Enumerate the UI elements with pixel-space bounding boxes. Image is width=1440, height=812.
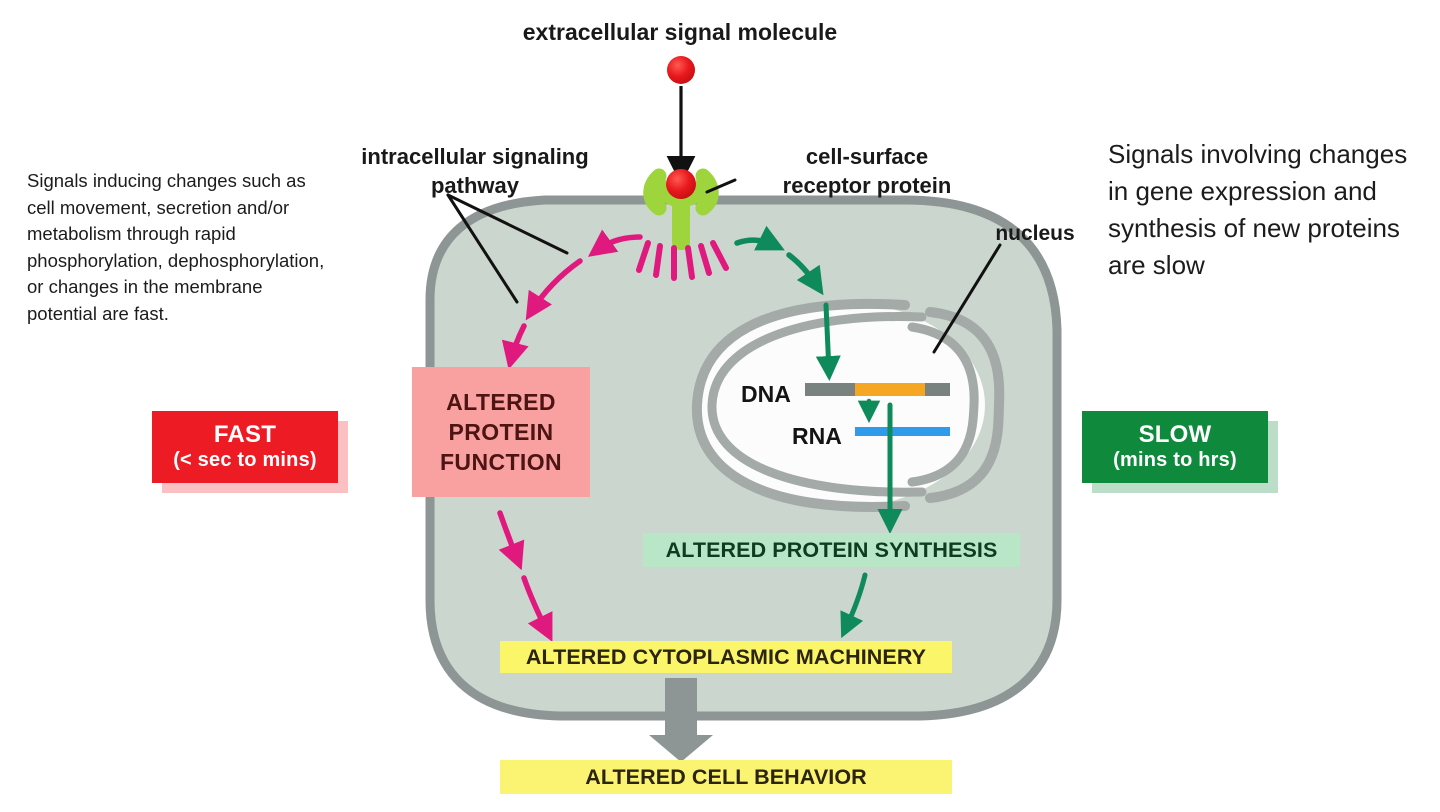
bound-signal-molecule-icon: [666, 169, 696, 199]
dna-backbone-right: [925, 383, 950, 396]
note-slow-responses: Signals involving changes in gene expres…: [1108, 136, 1418, 284]
rna-bar: [855, 427, 950, 436]
label-rna: RNA: [792, 423, 842, 450]
diagram-canvas: extracellular signal molecule intracellu…: [0, 0, 1440, 812]
box-altered-cytoplasmic-machinery: ALTERED CYTOPLASMIC MACHINERY: [500, 641, 952, 673]
badge-slow: SLOW (mins to hrs): [1082, 411, 1268, 483]
page-title: extracellular signal molecule: [440, 18, 920, 46]
dna-gene-segment: [855, 383, 933, 396]
badge-slow-subtitle: (mins to hrs): [1113, 448, 1237, 473]
box-altered-protein-synthesis: ALTERED PROTEIN SYNTHESIS: [643, 533, 1020, 567]
badge-fast-title: FAST: [214, 421, 276, 448]
dna-strand: [805, 383, 950, 396]
note-fast-responses: Signals inducing changes such as cell mo…: [27, 168, 327, 327]
arrow-to-dna: [826, 305, 829, 372]
cell-signaling-illustration: [0, 0, 1440, 812]
label-intracellular-pathway: intracellular signaling pathway: [330, 142, 620, 200]
label-nucleus: nucleus: [960, 221, 1110, 247]
red-ball-icon: [667, 56, 695, 84]
signal-molecule-group: [667, 56, 695, 172]
badge-slow-title: SLOW: [1139, 421, 1212, 448]
badge-fast-subtitle: (< sec to mins): [173, 448, 317, 473]
badge-fast: FAST (< sec to mins): [152, 411, 338, 483]
rna-strand: [855, 427, 950, 436]
box-altered-cell-behavior: ALTERED CELL BEHAVIOR: [500, 760, 952, 794]
label-dna: DNA: [741, 381, 791, 408]
box-altered-protein-function: ALTERED PROTEIN FUNCTION: [412, 367, 590, 497]
label-cell-surface-receptor: cell-surface receptor protein: [742, 142, 992, 200]
